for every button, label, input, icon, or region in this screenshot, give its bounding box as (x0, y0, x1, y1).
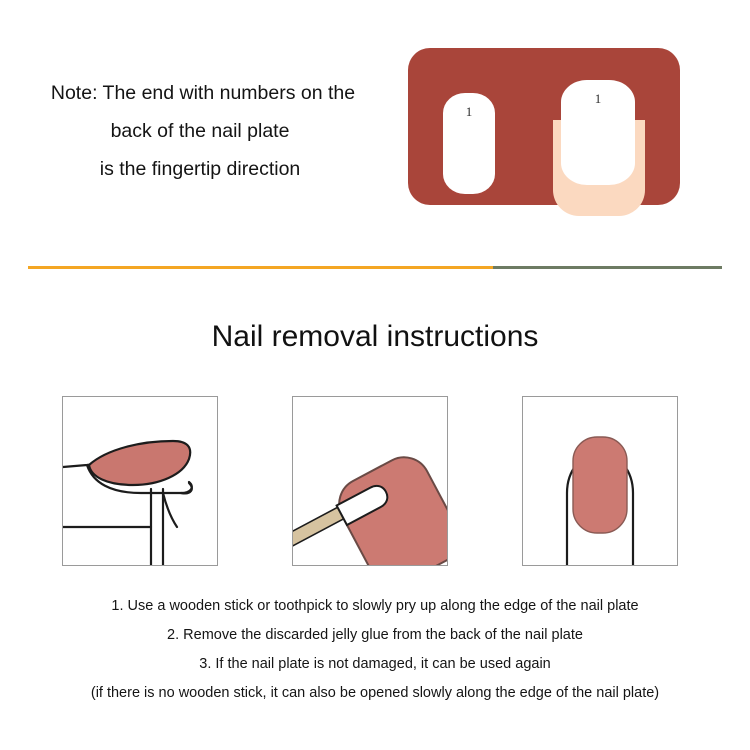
note-line-3: is the fingertip direction (0, 150, 400, 188)
nail-piece-left: 1 (443, 93, 495, 194)
instruction-line-2: 2. Remove the discarded jelly glue from … (0, 621, 750, 650)
note-block: Note: The end with numbers on the back o… (0, 74, 400, 188)
instruction-line-1: 1. Use a wooden stick or toothpick to sl… (0, 592, 750, 621)
instruction-line-4: (if there is no wooden stick, it can als… (0, 679, 750, 708)
instruction-text-block: 1. Use a wooden stick or toothpick to sl… (0, 592, 750, 708)
section-divider (28, 266, 722, 269)
divider-segment-green (493, 266, 722, 269)
divider-segment-orange (28, 266, 493, 269)
instruction-line-3: 3. If the nail plate is not damaged, it … (0, 650, 750, 679)
panel-intact-nail-front-view (522, 396, 678, 566)
nail-number-left: 1 (443, 104, 495, 120)
note-line-1: Note: The end with numbers on the (0, 74, 400, 112)
page-title: Nail removal instructions (0, 320, 750, 354)
nail-number-right: 1 (561, 91, 635, 107)
panel-pry-up-side-view (62, 396, 218, 566)
instruction-panel-group (62, 396, 688, 566)
nail-piece-right: 1 (561, 80, 635, 185)
note-line-2: back of the nail plate (0, 112, 400, 150)
panel-wooden-stick-under-nail (292, 396, 448, 566)
